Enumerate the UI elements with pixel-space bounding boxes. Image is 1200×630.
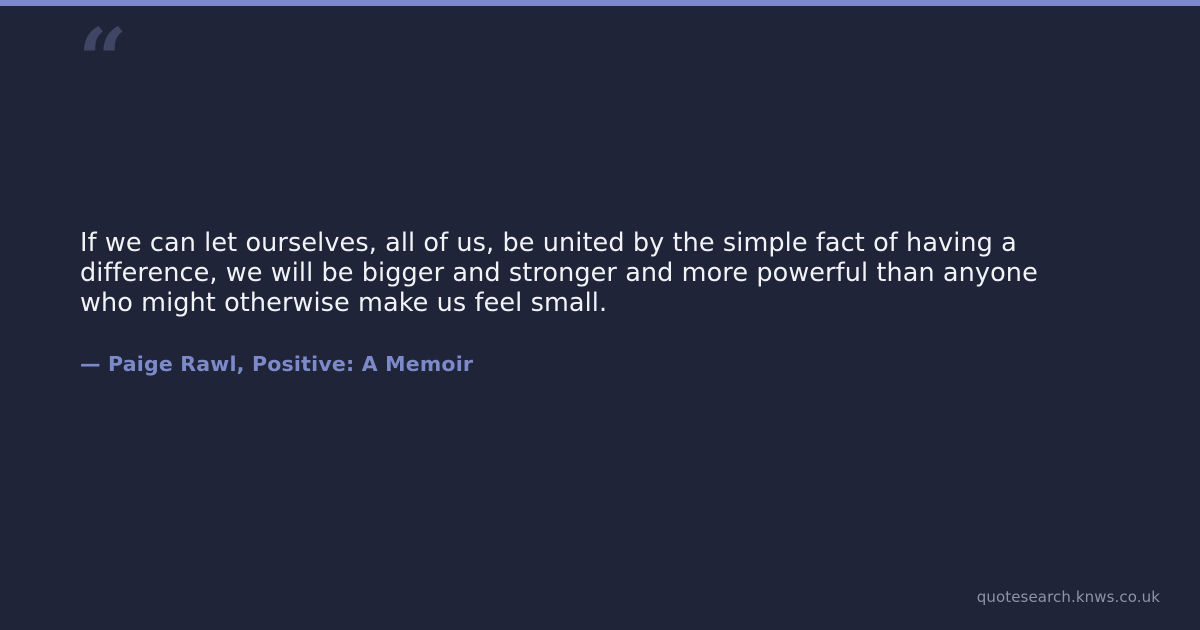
top-accent-bar — [0, 0, 1200, 6]
quote-card: “ If we can let ourselves, all of us, be… — [0, 0, 1200, 630]
quote-text: If we can let ourselves, all of us, be u… — [80, 228, 1090, 318]
open-quote-icon: “ — [78, 18, 125, 104]
footer-site-url: quotesearch.knws.co.uk — [977, 588, 1160, 606]
quote-content: If we can let ourselves, all of us, be u… — [80, 228, 1120, 377]
quote-attribution: — Paige Rawl, Positive: A Memoir — [80, 351, 1120, 377]
